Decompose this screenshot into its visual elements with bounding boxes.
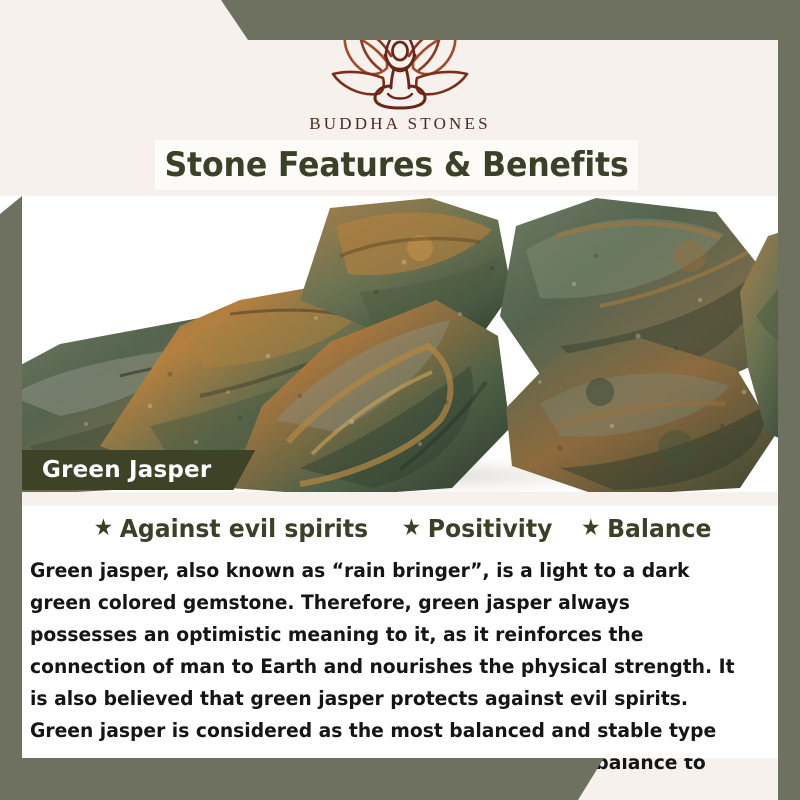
frame-left-bar — [0, 196, 22, 800]
cream-divider — [0, 492, 800, 506]
frame-right-bar — [778, 0, 800, 800]
title-plate: Stone Features & Benefits — [155, 140, 638, 190]
star-icon: ★ — [93, 517, 112, 540]
benefit-item: ★ Against evil spirits — [93, 514, 367, 543]
benefit-label: Positivity — [427, 514, 552, 543]
benefits-row: ★ Against evil spirits ★ Positivity ★ Ba… — [0, 506, 800, 543]
benefit-label: Balance — [607, 514, 711, 543]
star-icon: ★ — [401, 517, 420, 540]
brand-name: BUDDHA STONES — [0, 114, 800, 134]
benefit-item: ★ Balance — [581, 514, 711, 543]
poster-root: BUDDHA STONES Stone Features & Benefits — [0, 0, 800, 800]
footer-white-strip — [0, 752, 800, 758]
stone-photo — [0, 196, 800, 492]
content-section: ★ Against evil spirits ★ Positivity ★ Ba… — [0, 506, 800, 752]
stone-name-banner: Green Jasper — [22, 450, 255, 490]
star-icon: ★ — [581, 517, 600, 540]
stone-name: Green Jasper — [42, 457, 211, 483]
page-title: Stone Features & Benefits — [164, 145, 628, 185]
benefit-item: ★ Positivity — [401, 514, 552, 543]
benefit-label: Against evil spirits — [119, 514, 367, 543]
